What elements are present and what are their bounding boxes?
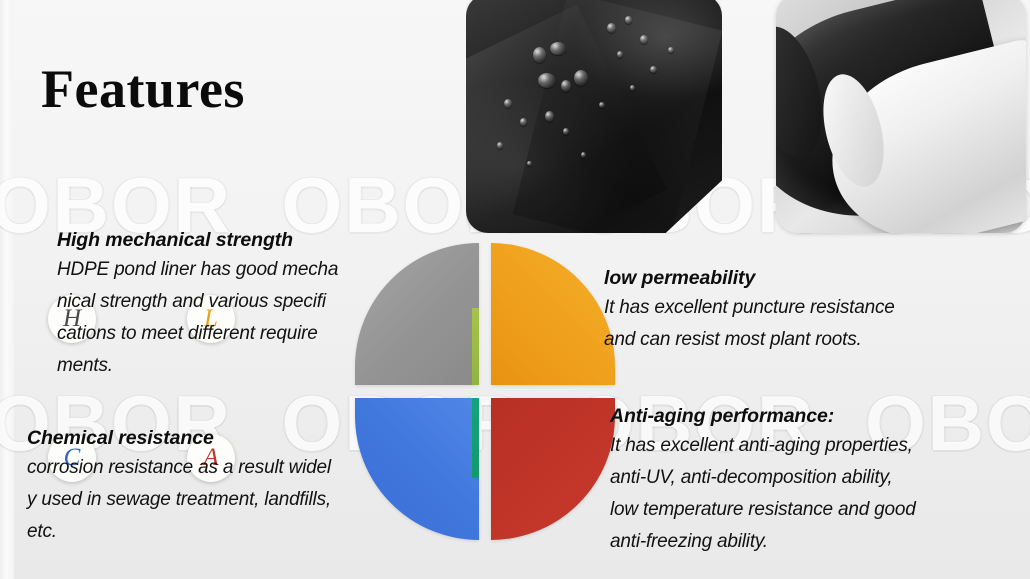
- water-droplet: [625, 16, 632, 24]
- quadrant-accent-edge: [472, 398, 479, 478]
- feature-heading: Anti-aging performance:: [610, 405, 916, 428]
- water-droplet: [497, 142, 503, 149]
- feature-line: anti-freezing ability.: [610, 526, 916, 558]
- feature-line: etc.: [27, 516, 331, 548]
- features-slide: OBOR OBOR OBOR OBOR OBOR OBOR OBOR OBOR …: [0, 0, 1030, 579]
- features-quadrant-wheel: [355, 243, 615, 540]
- quadrant-chemical-resistance[interactable]: [355, 398, 479, 540]
- feature-line: HDPE pond liner has good mecha: [57, 254, 338, 286]
- feature-high-mechanical-strength: High mechanical strength HDPE pond liner…: [57, 229, 338, 382]
- quadrant-fill: [491, 398, 615, 540]
- water-droplet: [574, 70, 588, 86]
- water-droplet: [668, 47, 674, 53]
- feature-line: anti-UV, anti-decomposition ability,: [610, 462, 916, 494]
- feature-line: corrosion resistance as a result widel: [27, 452, 331, 484]
- feature-line: cations to meet different require: [57, 318, 338, 350]
- water-droplet: [581, 152, 586, 158]
- feature-heading: Chemical resistance: [27, 427, 331, 450]
- quadrant-fill: [491, 243, 615, 385]
- water-droplet: [520, 118, 527, 126]
- feature-low-permeability: low permeability It has excellent punctu…: [604, 267, 895, 356]
- water-droplet: [599, 102, 605, 108]
- quadrant-fill: [355, 243, 479, 385]
- quadrant-low-permeability[interactable]: [491, 243, 615, 385]
- water-droplet: [607, 23, 616, 33]
- water-droplet: [538, 73, 556, 88]
- quadrant-anti-aging-performance[interactable]: [491, 398, 615, 540]
- hdpe-liner-sheet-photo: [466, 0, 722, 233]
- feature-anti-aging-performance: Anti-aging performance: It has excellent…: [610, 405, 916, 558]
- left-edge-band: [0, 0, 14, 579]
- feature-line: and can resist most plant roots.: [604, 324, 895, 356]
- water-droplet: [640, 35, 648, 44]
- feature-line: ments.: [57, 350, 338, 382]
- water-droplet: [650, 66, 657, 73]
- quadrant-accent-edge: [472, 308, 479, 385]
- hdpe-rolls-photo: [776, 0, 1026, 233]
- quadrant-high-mechanical-strength[interactable]: [355, 243, 479, 385]
- feature-chemical-resistance: Chemical resistance corrosion resistance…: [27, 427, 331, 548]
- feature-heading: low permeability: [604, 267, 895, 290]
- feature-line: y used in sewage treatment, landfills,: [27, 484, 331, 516]
- water-droplet: [533, 47, 546, 63]
- feature-line: nical strength and various specifi: [57, 286, 338, 318]
- feature-line: It has excellent anti-aging properties,: [610, 430, 916, 462]
- water-droplet: [561, 80, 571, 92]
- feature-line: It has excellent puncture resistance: [604, 292, 895, 324]
- feature-heading: High mechanical strength: [57, 229, 338, 252]
- page-title: Features: [41, 58, 245, 120]
- feature-line: low temperature resistance and good: [610, 494, 916, 526]
- water-droplet: [630, 85, 635, 91]
- quadrant-fill: [355, 398, 479, 540]
